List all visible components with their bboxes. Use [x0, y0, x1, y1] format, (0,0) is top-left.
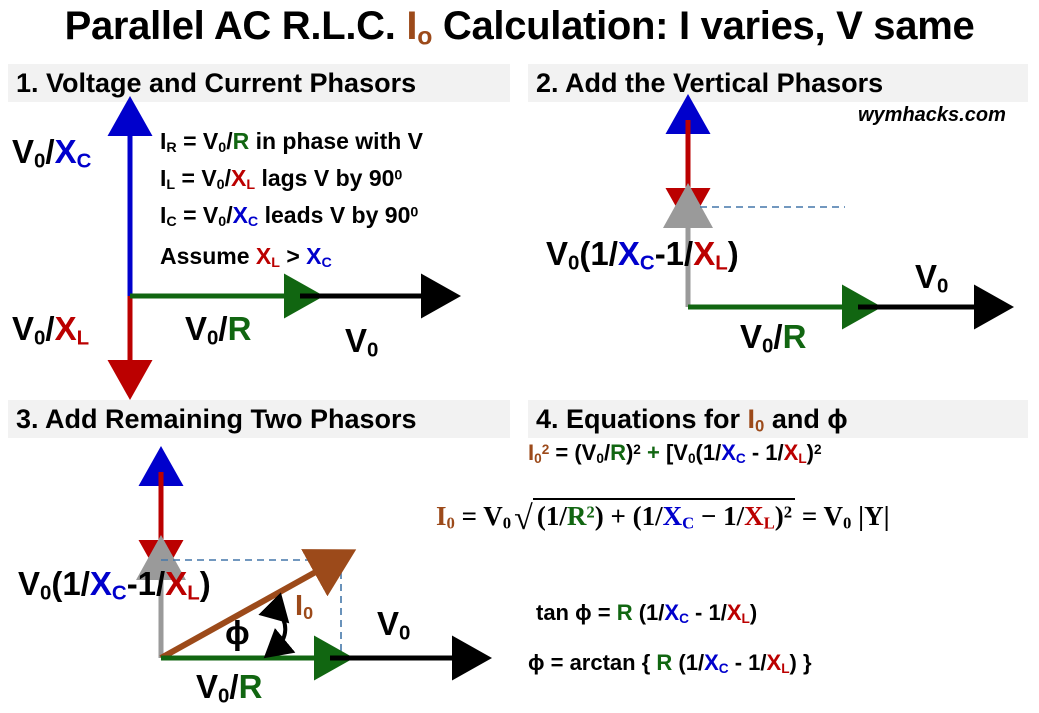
xl-symbol: XL: [693, 235, 728, 272]
title-prefix: Parallel AC R.L.C.: [65, 4, 407, 48]
equation-phi-arctan: ϕ = arctan { R (1/XC - 1/XL) }: [528, 650, 812, 676]
label-v0-over-r-p2: V0/R: [740, 318, 806, 359]
xl-symbol: XL: [231, 165, 255, 191]
i0-symbol: I0: [436, 501, 455, 531]
diagram-page: Parallel AC R.L.C. Io Calculation: I var…: [0, 0, 1039, 713]
xc-symbol: XC: [55, 133, 92, 170]
label-v0-over-xl-p1: V0/XL: [12, 310, 89, 351]
title-io-symbol: Io: [406, 4, 432, 48]
r-symbol: R: [783, 318, 807, 355]
xl-symbol: XL: [727, 600, 750, 625]
header-phi-symbol: ϕ: [827, 404, 847, 434]
label-v0-p3: V0: [377, 605, 410, 646]
header-io-symbol: I0: [748, 404, 765, 434]
label-phi-p3: ϕ: [225, 614, 250, 652]
page-title: Parallel AC R.L.C. Io Calculation: I var…: [0, 0, 1039, 58]
r-symbol: R: [228, 310, 252, 347]
label-v0-p2: V0: [915, 258, 948, 299]
equation-ic-p1: IC = V0/XC leads V by 900: [160, 202, 418, 230]
label-i0-p3: I0: [295, 590, 313, 624]
r-symbol: R: [233, 128, 250, 154]
phi-symbol: ϕ: [575, 600, 592, 625]
equation-assume-p1: Assume XL > XC: [160, 243, 332, 271]
xc-symbol: XC: [664, 600, 689, 625]
r-symbol: R: [239, 668, 263, 705]
r-symbol: R: [617, 600, 633, 625]
r-symbol: R2: [567, 501, 595, 531]
xl-symbol: XL: [256, 243, 280, 269]
xc-symbol: XC: [618, 235, 655, 272]
title-suffix: Calculation: I varies, V same: [432, 4, 974, 48]
equation-i0-squared: I02 = (V0/R)2 + [V0(1/XC - 1/XL)2: [528, 440, 822, 466]
label-v0-over-r-p1: V0/R: [185, 310, 251, 351]
xc-symbol: XC: [233, 202, 259, 228]
panel-header-4: 4. Equations for I0 and ϕ: [528, 400, 1028, 438]
label-v0-over-xc-p1: V0/XC: [12, 133, 91, 174]
xl-symbol: XL: [55, 310, 90, 347]
xl-symbol: XL: [767, 650, 790, 675]
xl-symbol: XL: [784, 440, 807, 465]
xc-symbol: XC: [704, 650, 729, 675]
label-v0-sum-p3: V0(1/XC-1/XL): [18, 565, 211, 606]
radicand: (1/R2) + (1/XC − 1/XL)2: [533, 498, 795, 534]
panel-header-3: 3. Add Remaining Two Phasors: [8, 400, 510, 438]
xc-symbol: XC: [306, 243, 332, 269]
xl-symbol: XL: [165, 565, 200, 602]
watermark: wymhacks.com: [858, 104, 1006, 127]
xc-symbol: XC: [721, 440, 746, 465]
panel-header-2: 2. Add the Vertical Phasors: [528, 64, 1028, 102]
square-root-group: √(1/R2) + (1/XC − 1/XL)2: [511, 498, 795, 538]
xc-symbol: XC: [663, 501, 695, 531]
panel3-phasor-group: [161, 470, 468, 658]
label-v0-over-r-p3: V0/R: [196, 668, 262, 709]
r-symbol: R: [610, 440, 626, 465]
label-v0-sum-p2: V0(1/XC-1/XL): [546, 235, 739, 276]
sqrt-icon: √: [514, 500, 533, 538]
equation-il-p1: IL = V0/XL lags V by 900: [160, 165, 402, 193]
plus-sign: +: [641, 440, 666, 465]
phase-angle-arc-p3: [276, 612, 285, 648]
equation-i0-main: I0 = V0√(1/R2) + (1/XC − 1/XL)2 = V0 |Y|: [436, 498, 890, 538]
phi-symbol: ϕ: [528, 650, 545, 675]
i0-symbol: I02: [528, 440, 549, 465]
xc-symbol: XC: [90, 565, 127, 602]
panel-header-1: 1. Voltage and Current Phasors: [8, 64, 510, 102]
equation-ir-p1: IR = V0/R in phase with V: [160, 128, 423, 156]
equation-tan-phi: tan ϕ = R (1/XC - 1/XL): [536, 600, 757, 626]
r-symbol: R: [656, 650, 672, 675]
xl-symbol: XL: [744, 501, 775, 531]
label-v0-p1: V0: [345, 322, 378, 363]
